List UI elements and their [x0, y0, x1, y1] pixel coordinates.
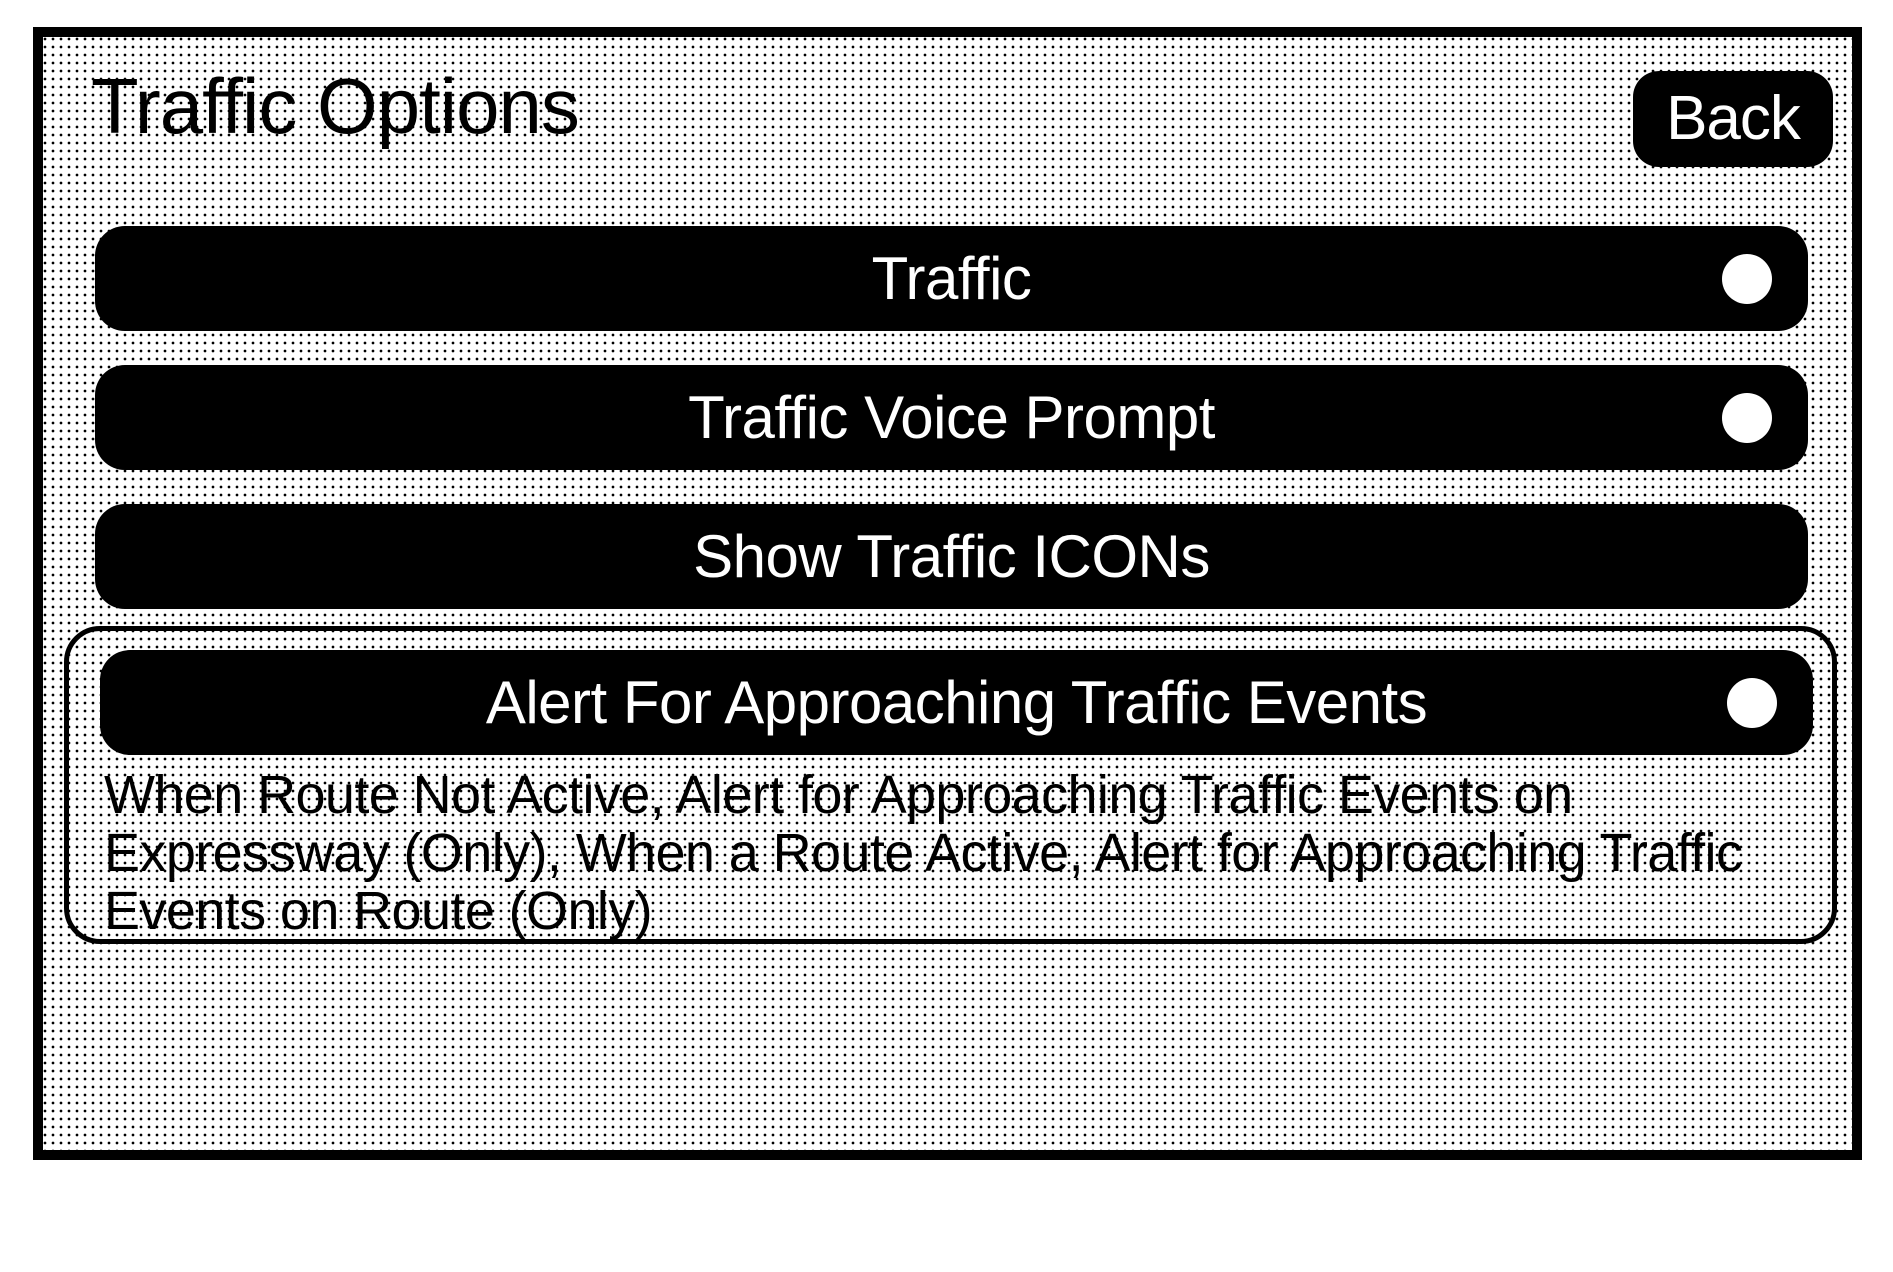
option-row-alert-for-approaching-traffic-events[interactable]: Alert For Approaching Traffic Events — [100, 650, 1813, 755]
option-row-traffic-voice-prompt[interactable]: Traffic Voice Prompt — [95, 365, 1808, 470]
option-row-show-traffic-icons[interactable]: Show Traffic ICONs — [95, 504, 1808, 609]
header: Traffic Options Back — [43, 37, 1852, 197]
filled-circle-icon-traffic — [1722, 254, 1772, 304]
option-row-traffic[interactable]: Traffic — [95, 226, 1808, 331]
page-title: Traffic Options — [91, 67, 579, 145]
option-label-alert-for-approaching-traffic-events: Alert For Approaching Traffic Events — [100, 650, 1813, 755]
alert-description-text: When Route Not Active, Alert for Approac… — [104, 766, 1812, 940]
screen-frame: Traffic Options Back Traffic Traffic Voi… — [33, 27, 1862, 1160]
filled-circle-icon-alert-for-approaching-traffic-events — [1727, 678, 1777, 728]
option-label-traffic-voice-prompt: Traffic Voice Prompt — [95, 365, 1808, 470]
back-button[interactable]: Back — [1633, 71, 1833, 167]
filled-circle-icon-traffic-voice-prompt — [1722, 393, 1772, 443]
option-label-show-traffic-icons: Show Traffic ICONs — [95, 504, 1808, 609]
alert-option-group: Alert For Approaching Traffic Events Whe… — [64, 626, 1837, 944]
option-label-traffic: Traffic — [95, 226, 1808, 331]
